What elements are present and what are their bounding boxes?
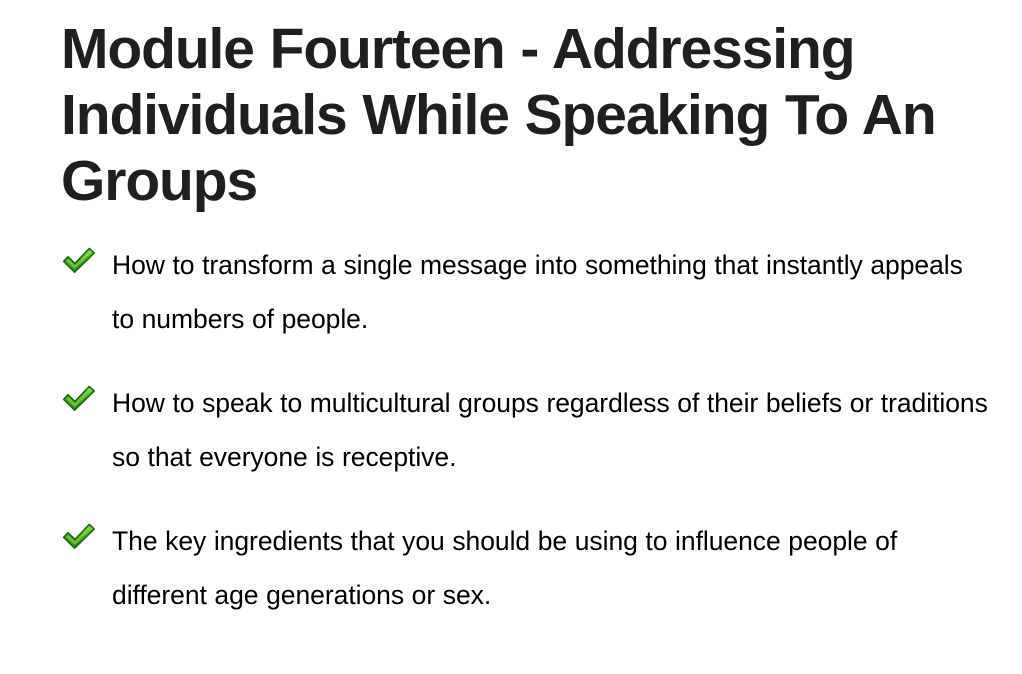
list-item-label: The key ingredients that you should be u… bbox=[112, 514, 991, 622]
list-item-label: How to speak to multicultural groups reg… bbox=[112, 376, 991, 484]
list-item: The key ingredients that you should be u… bbox=[61, 514, 991, 622]
page-title: Module Fourteen - Addressing Individuals… bbox=[61, 16, 961, 214]
benefit-list: How to transform a single message into s… bbox=[61, 238, 991, 622]
list-item-label: How to transform a single message into s… bbox=[112, 238, 991, 346]
lesson-module-slide: Module Fourteen - Addressing Individuals… bbox=[0, 0, 1022, 674]
green-check-icon bbox=[62, 523, 96, 550]
green-check-icon bbox=[62, 247, 96, 274]
green-check-icon bbox=[62, 385, 96, 412]
list-item: How to speak to multicultural groups reg… bbox=[61, 376, 991, 484]
list-item: How to transform a single message into s… bbox=[61, 238, 991, 346]
